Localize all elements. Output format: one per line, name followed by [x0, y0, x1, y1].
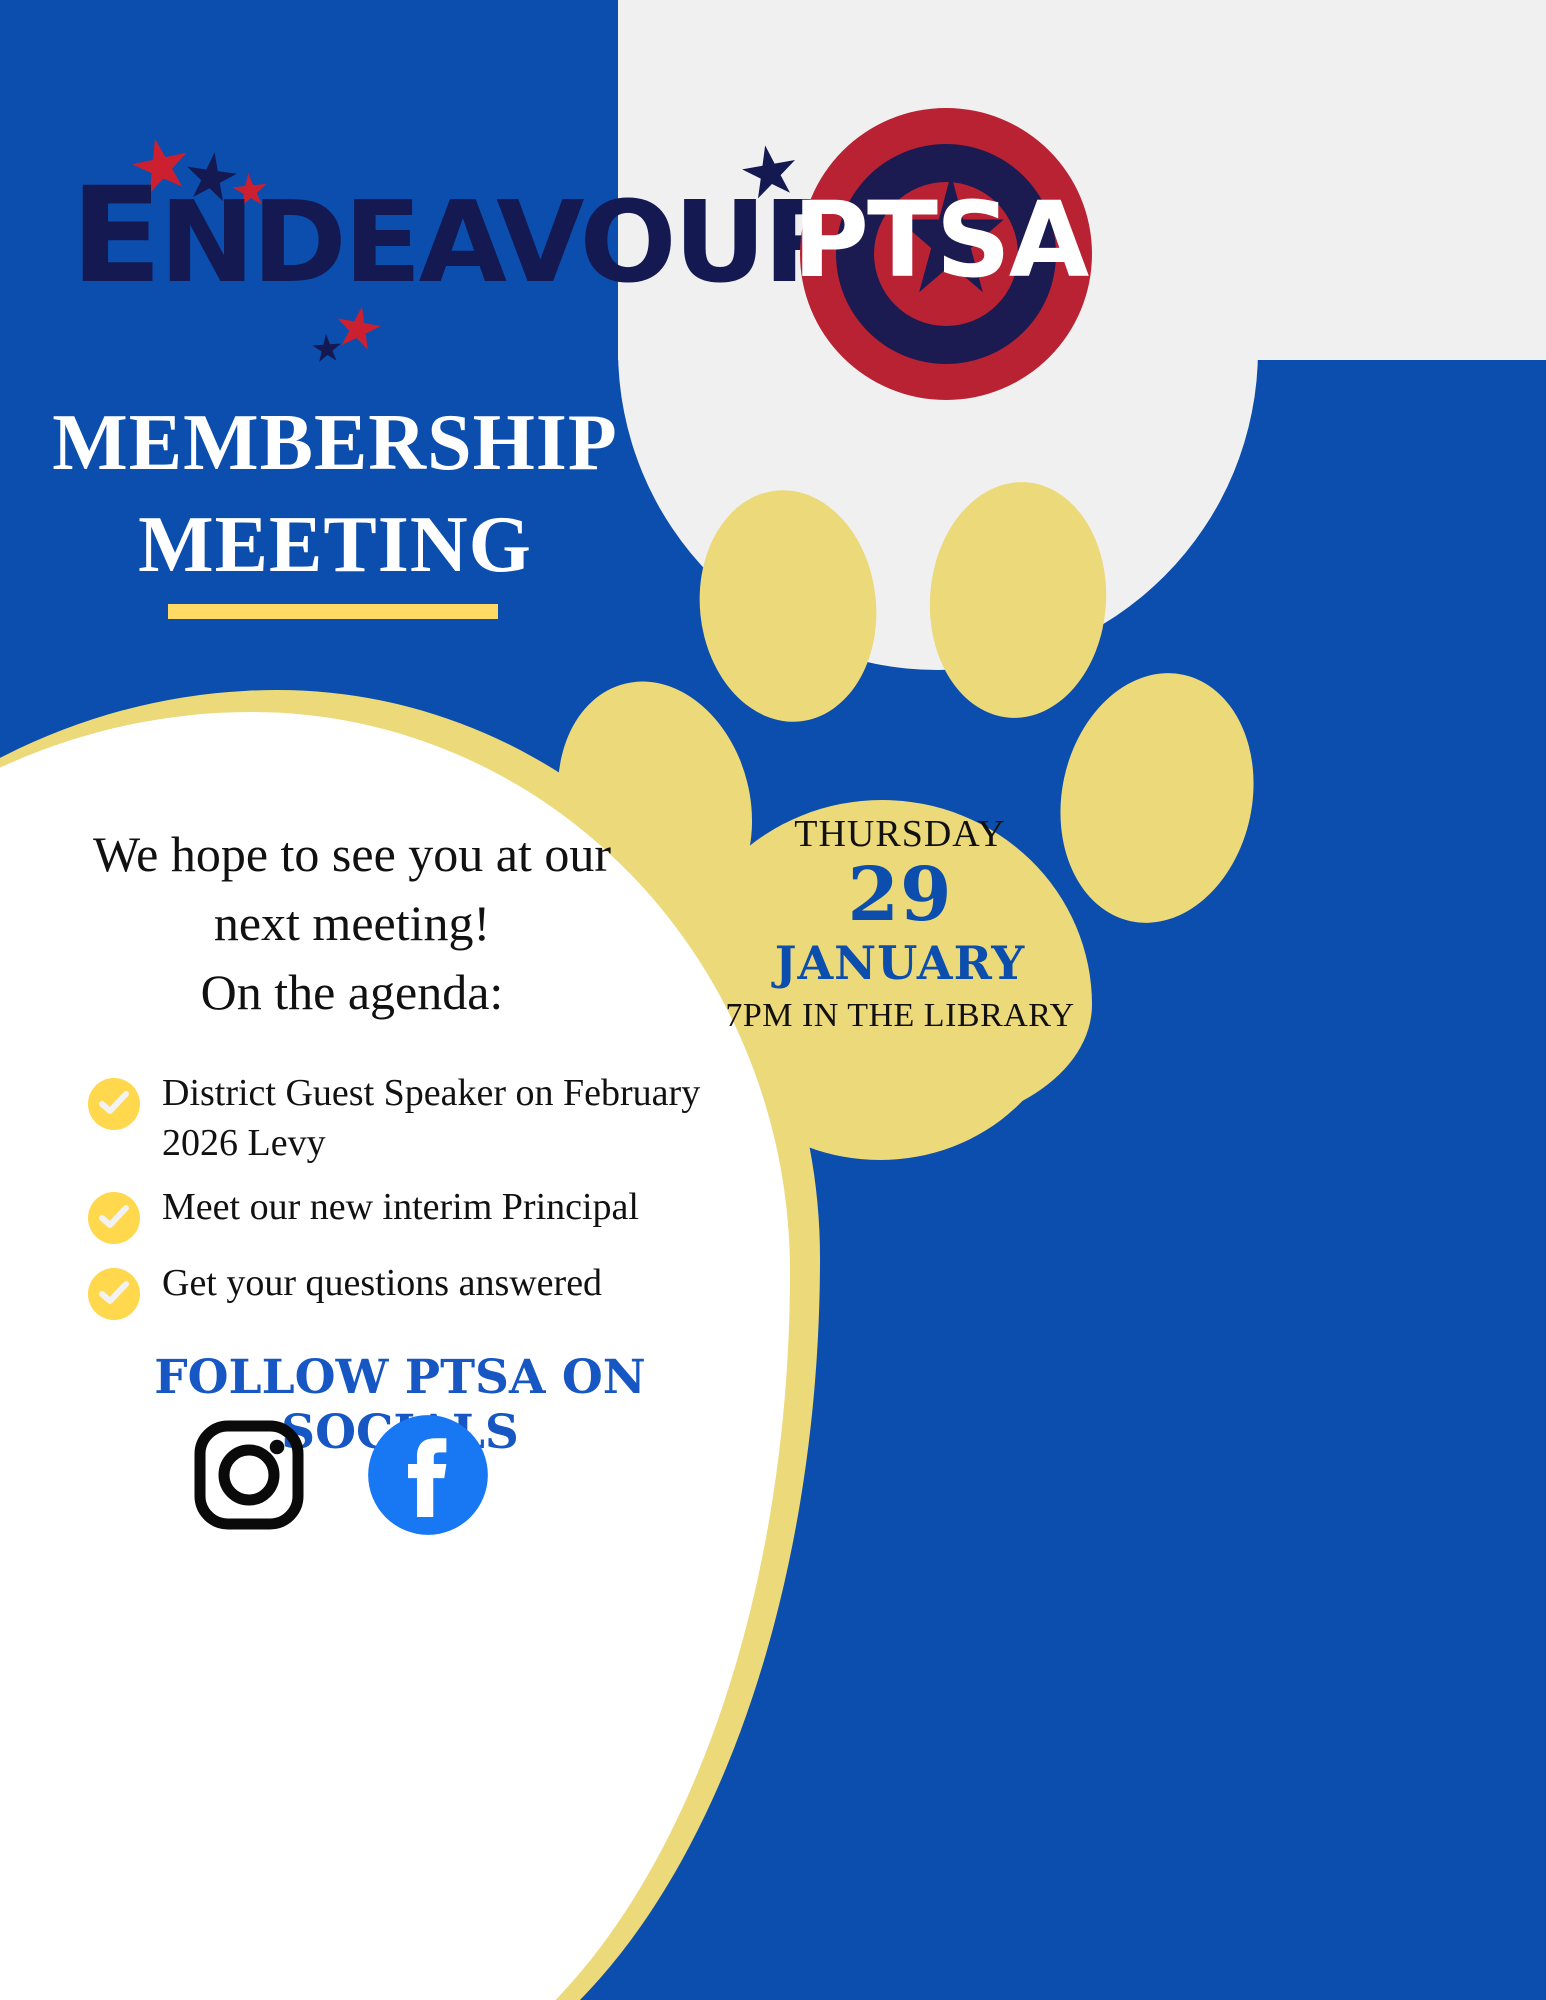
list-item: Get your questions answered — [88, 1258, 728, 1320]
ptsa-badge-label: PTSA — [790, 188, 1090, 292]
title-underline-rule — [168, 604, 498, 619]
list-item: Meet our new interim Principal — [88, 1182, 728, 1244]
agenda-list: District Guest Speaker on February 2026 … — [88, 1068, 728, 1334]
intro-line-2: next meeting! — [22, 889, 682, 958]
instagram-icon[interactable] — [189, 1415, 309, 1535]
event-day-of-week: THURSDAY — [700, 812, 1100, 856]
flyer-poster: ENDEAVOUR PTSA MEMBERSHIP MEETING We hop… — [0, 0, 1546, 2000]
event-date-badge: THURSDAY 29 JANUARY 7PM IN THE LIBRARY — [700, 812, 1100, 1035]
event-time-location: 7PM IN THE LIBRARY — [700, 997, 1100, 1035]
org-wordmark-initial: E — [70, 159, 159, 313]
star-icon — [331, 302, 384, 355]
agenda-item-label: District Guest Speaker on February 2026 … — [162, 1068, 728, 1168]
page-title-line-2: MEETING — [40, 494, 630, 596]
intro-line-1: We hope to see you at our — [22, 820, 682, 889]
star-icon — [311, 333, 343, 365]
intro-line-3: On the agenda: — [22, 958, 682, 1027]
org-wordmark-rest: NDEAVOUR — [159, 178, 848, 308]
list-item: District Guest Speaker on February 2026 … — [88, 1068, 728, 1168]
agenda-item-label: Meet our new interim Principal — [162, 1182, 639, 1232]
event-month: JANUARY — [700, 936, 1100, 991]
logo-header: ENDEAVOUR PTSA — [0, 0, 1546, 400]
facebook-icon[interactable] — [365, 1412, 491, 1538]
check-circle-icon — [88, 1192, 140, 1244]
check-circle-icon — [88, 1268, 140, 1320]
page-title: MEMBERSHIP MEETING — [40, 392, 630, 597]
page-title-line-1: MEMBERSHIP — [40, 392, 630, 494]
socials-icon-row — [170, 1412, 510, 1538]
intro-text: We hope to see you at our next meeting! … — [22, 820, 682, 1027]
agenda-item-label: Get your questions answered — [162, 1258, 602, 1308]
org-wordmark: ENDEAVOUR — [70, 170, 848, 302]
event-day-number: 29 — [700, 856, 1100, 936]
check-circle-icon — [88, 1078, 140, 1130]
